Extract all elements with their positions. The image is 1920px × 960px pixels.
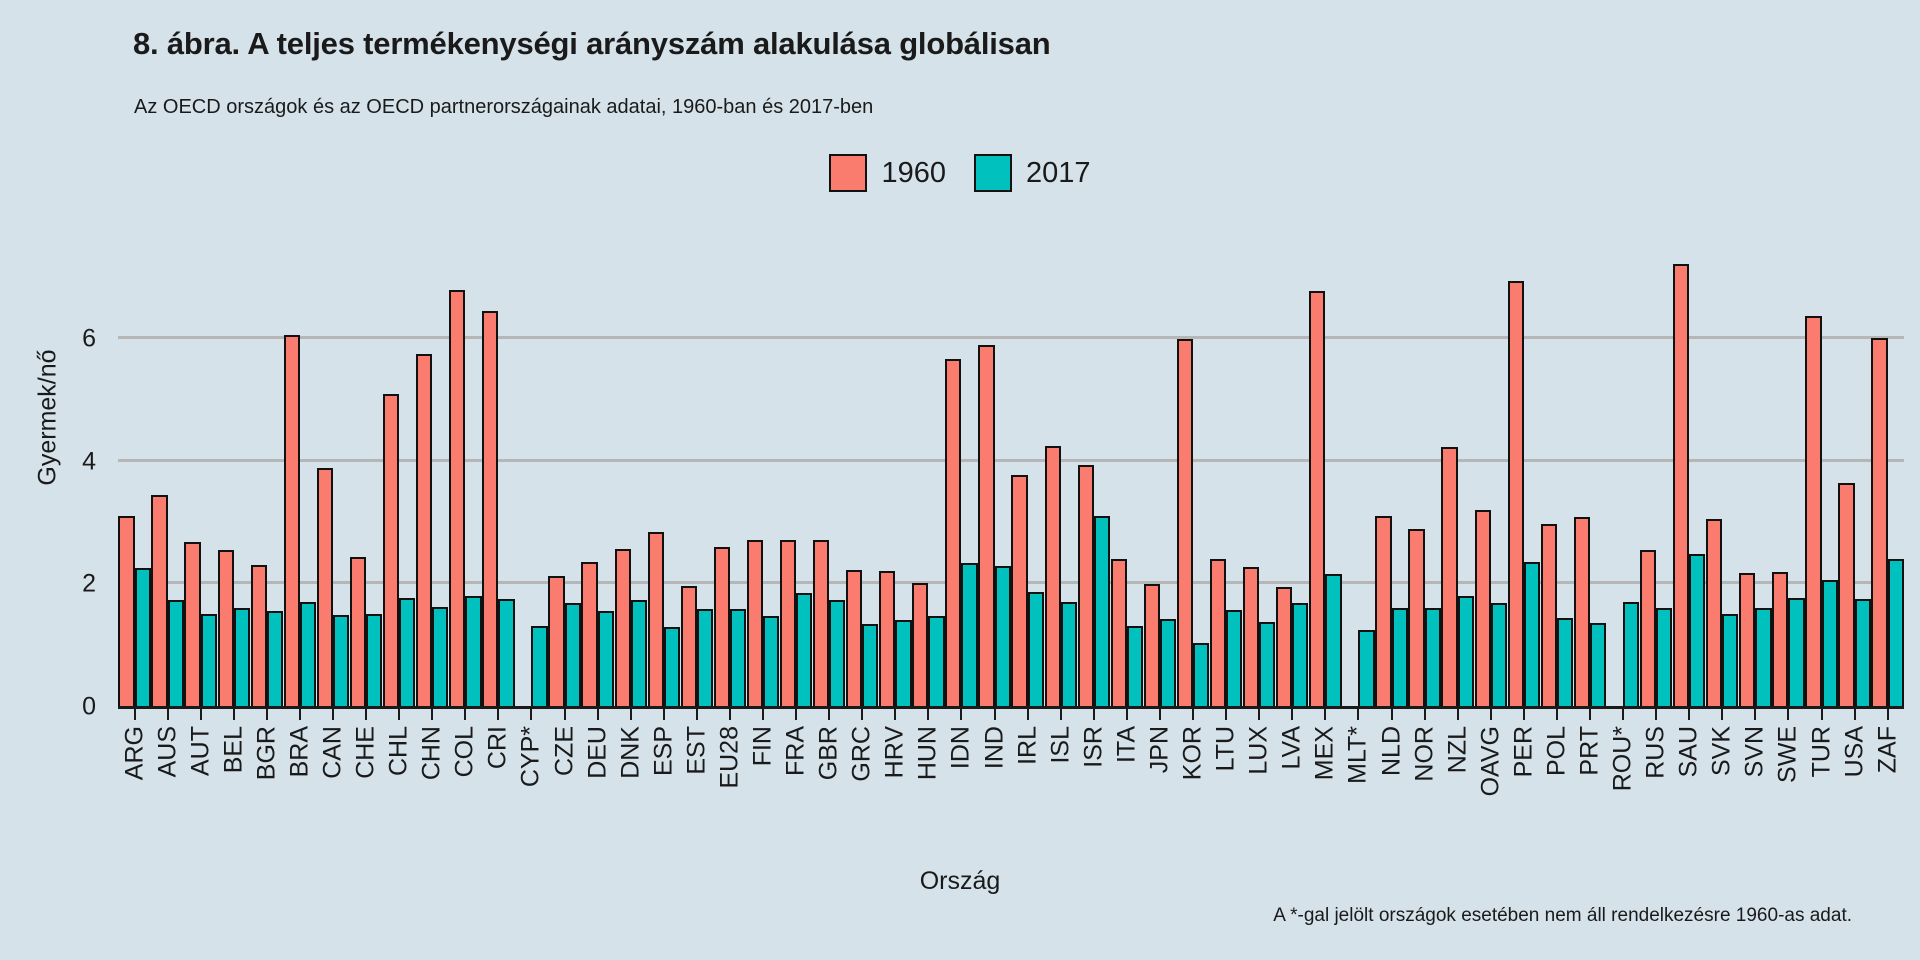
x-label-ISR: ISR bbox=[1077, 726, 1110, 836]
x-label-text: AUT bbox=[188, 726, 213, 776]
bar-2017-LVA[interactable] bbox=[1292, 603, 1308, 707]
bar-group bbox=[449, 247, 482, 707]
x-label-text: NOR bbox=[1412, 726, 1437, 782]
bar-2017-DNK[interactable] bbox=[631, 600, 647, 707]
bar-1960-BRA[interactable] bbox=[284, 335, 300, 707]
bar-2017-DEU[interactable] bbox=[598, 611, 614, 707]
x-tick bbox=[1276, 707, 1309, 723]
x-tick bbox=[647, 707, 680, 723]
bar-group bbox=[118, 247, 151, 707]
bar-1960-NZL[interactable] bbox=[1441, 447, 1457, 707]
bar-2017-CHN[interactable] bbox=[432, 607, 448, 707]
x-label-text: DNK bbox=[618, 726, 643, 779]
x-label-NOR: NOR bbox=[1408, 726, 1441, 836]
bar-1960-FRA[interactable] bbox=[780, 540, 796, 707]
x-label-IDN: IDN bbox=[945, 726, 978, 836]
x-label-text: IDN bbox=[949, 726, 974, 769]
bar-1960-FIN[interactable] bbox=[747, 540, 763, 707]
y-tick-label-2: 2 bbox=[56, 570, 96, 599]
bar-2017-RUS[interactable] bbox=[1656, 608, 1672, 707]
bar-2017-NLD[interactable] bbox=[1392, 608, 1408, 707]
bar-2017-ISL[interactable] bbox=[1061, 602, 1077, 707]
bar-1960-MEX[interactable] bbox=[1309, 291, 1325, 707]
x-tick bbox=[746, 707, 779, 723]
x-label-text: PER bbox=[1511, 726, 1536, 777]
x-tick bbox=[1474, 707, 1507, 723]
x-label-text: ESP bbox=[651, 726, 676, 776]
bar-1960-ISL[interactable] bbox=[1045, 446, 1061, 707]
bar-2017-EST[interactable] bbox=[697, 609, 713, 707]
x-tick bbox=[846, 707, 879, 723]
x-axis-ticks bbox=[118, 707, 1904, 723]
x-label-USA: USA bbox=[1838, 726, 1871, 836]
x-label-text: EST bbox=[684, 726, 709, 775]
bar-1960-PER[interactable] bbox=[1508, 281, 1524, 707]
legend-item-1960: 1960 bbox=[829, 154, 946, 192]
x-tick bbox=[1375, 707, 1408, 723]
x-axis-labels: ARGAUSAUTBELBGRBRACANCHECHLCHNCOLCRICYP*… bbox=[118, 726, 1904, 836]
x-label-MLT: MLT* bbox=[1342, 726, 1375, 836]
x-label-ITA: ITA bbox=[1110, 726, 1143, 836]
bar-group bbox=[383, 247, 416, 707]
bar-2017-CHE[interactable] bbox=[366, 614, 382, 707]
bar-1960-DEU[interactable] bbox=[581, 562, 597, 707]
x-tick bbox=[680, 707, 713, 723]
x-label-CHN: CHN bbox=[416, 726, 449, 836]
bar-1960-HUN[interactable] bbox=[912, 583, 928, 707]
bar-1960-RUS[interactable] bbox=[1640, 550, 1656, 707]
x-label-text: BRA bbox=[287, 726, 312, 777]
bar-2017-SVK[interactable] bbox=[1722, 614, 1738, 707]
x-label-text: POL bbox=[1544, 726, 1569, 776]
x-label-text: ISR bbox=[1081, 726, 1106, 768]
bar-1960-GBR[interactable] bbox=[813, 540, 829, 707]
x-label-text: USA bbox=[1842, 726, 1867, 777]
bar-1960-LVA[interactable] bbox=[1276, 587, 1292, 707]
x-label-text: RUS bbox=[1644, 726, 1669, 779]
x-tick bbox=[1871, 707, 1904, 723]
x-tick bbox=[945, 707, 978, 723]
x-tick bbox=[515, 707, 548, 723]
x-tick bbox=[1011, 707, 1044, 723]
bar-1960-CHN[interactable] bbox=[416, 354, 432, 707]
x-label-text: IND bbox=[982, 726, 1007, 769]
x-label-PRT: PRT bbox=[1573, 726, 1606, 836]
bar-2017-BEL[interactable] bbox=[234, 608, 250, 707]
bar-group bbox=[1607, 247, 1640, 707]
x-tick bbox=[1408, 707, 1441, 723]
x-label-text: SAU bbox=[1677, 726, 1702, 777]
x-label-text: HRV bbox=[883, 726, 908, 778]
bar-1960-EST[interactable] bbox=[681, 586, 697, 707]
page-subtitle: Az OECD országok és az OECD partnerorszá… bbox=[134, 96, 873, 119]
legend-swatch-2017 bbox=[974, 154, 1012, 192]
bar-2017-HRV[interactable] bbox=[895, 620, 911, 707]
x-tick bbox=[1838, 707, 1871, 723]
x-label-text: IRL bbox=[1015, 726, 1040, 765]
legend-label-2017: 2017 bbox=[1026, 157, 1091, 190]
x-label-CAN: CAN bbox=[316, 726, 349, 836]
bar-1960-IDN[interactable] bbox=[945, 359, 961, 707]
bar-2017-USA[interactable] bbox=[1855, 599, 1871, 707]
x-label-text: OAVG bbox=[1478, 726, 1503, 796]
x-label-KOR: KOR bbox=[1177, 726, 1210, 836]
x-label-NLD: NLD bbox=[1375, 726, 1408, 836]
x-tick bbox=[581, 707, 614, 723]
bar-1960-ZAF[interactable] bbox=[1871, 338, 1887, 707]
x-label-text: SWE bbox=[1776, 726, 1801, 783]
bar-group bbox=[316, 247, 349, 707]
bar-1960-CZE[interactable] bbox=[548, 576, 564, 707]
bar-2017-SAU[interactable] bbox=[1689, 554, 1705, 707]
x-label-EU28: EU28 bbox=[713, 726, 746, 836]
bar-2017-BRA[interactable] bbox=[300, 602, 316, 707]
bar-group bbox=[1408, 247, 1441, 707]
x-label-ZAF: ZAF bbox=[1871, 726, 1904, 836]
bar-2017-CZE[interactable] bbox=[565, 603, 581, 707]
x-tick bbox=[1640, 707, 1673, 723]
bar-2017-IND[interactable] bbox=[995, 566, 1011, 707]
x-label-CZE: CZE bbox=[548, 726, 581, 836]
x-label-text: HUN bbox=[916, 726, 941, 780]
bar-group bbox=[482, 247, 515, 707]
bar-2017-ARG[interactable] bbox=[135, 568, 151, 707]
bar-1960-PRT[interactable] bbox=[1574, 517, 1590, 707]
bar-1960-BGR[interactable] bbox=[251, 565, 267, 707]
bar-2017-GBR[interactable] bbox=[829, 600, 845, 707]
bar-group bbox=[879, 247, 912, 707]
bar-1960-LTU[interactable] bbox=[1210, 559, 1226, 707]
bar-1960-ESP[interactable] bbox=[648, 532, 664, 707]
bar-2017-CAN[interactable] bbox=[333, 615, 349, 707]
x-label-POL: POL bbox=[1540, 726, 1573, 836]
x-tick bbox=[1110, 707, 1143, 723]
bar-group bbox=[1243, 247, 1276, 707]
x-label-FRA: FRA bbox=[780, 726, 813, 836]
bar-1960-LUX[interactable] bbox=[1243, 567, 1259, 707]
x-label-text: COL bbox=[453, 726, 478, 777]
x-label-SVK: SVK bbox=[1706, 726, 1739, 836]
bar-group bbox=[1110, 247, 1143, 707]
bar-2017-ZAF[interactable] bbox=[1888, 559, 1904, 707]
x-label-CRI: CRI bbox=[482, 726, 515, 836]
bar-2017-FIN[interactable] bbox=[763, 616, 779, 707]
x-label-RUS: RUS bbox=[1640, 726, 1673, 836]
x-label-text: ISL bbox=[1048, 726, 1073, 764]
x-label-JPN: JPN bbox=[1143, 726, 1176, 836]
x-tick bbox=[482, 707, 515, 723]
x-label-DNK: DNK bbox=[614, 726, 647, 836]
x-label-text: SVN bbox=[1743, 726, 1768, 777]
x-label-BRA: BRA bbox=[283, 726, 316, 836]
bar-1960-CHL[interactable] bbox=[383, 394, 399, 707]
bar-group bbox=[1276, 247, 1309, 707]
bar-1960-IND[interactable] bbox=[978, 345, 994, 707]
x-tick bbox=[1573, 707, 1606, 723]
x-label-text: ITA bbox=[1114, 726, 1139, 763]
bar-group bbox=[746, 247, 779, 707]
x-label-text: LUX bbox=[1247, 726, 1272, 775]
bar-group bbox=[581, 247, 614, 707]
bar-group bbox=[548, 247, 581, 707]
x-tick bbox=[184, 707, 217, 723]
x-label-SVN: SVN bbox=[1739, 726, 1772, 836]
bar-1960-COL[interactable] bbox=[449, 290, 465, 707]
x-tick bbox=[1673, 707, 1706, 723]
x-label-ARG: ARG bbox=[118, 726, 151, 836]
x-label-HUN: HUN bbox=[912, 726, 945, 836]
x-label-text: ZAF bbox=[1875, 726, 1900, 773]
x-label-CHE: CHE bbox=[350, 726, 383, 836]
bar-group bbox=[1507, 247, 1540, 707]
bar-2017-CRI[interactable] bbox=[498, 599, 514, 707]
bar-1960-CHE[interactable] bbox=[350, 557, 366, 707]
x-label-HRV: HRV bbox=[879, 726, 912, 836]
bar-group bbox=[1871, 247, 1904, 707]
bar-2017-CHL[interactable] bbox=[399, 598, 415, 707]
bar-group bbox=[1011, 247, 1044, 707]
bar-2017-LTU[interactable] bbox=[1226, 610, 1242, 707]
bar-2017-COL[interactable] bbox=[465, 596, 481, 707]
bar-group bbox=[1143, 247, 1176, 707]
x-label-text: FIN bbox=[751, 726, 776, 766]
x-label-SWE: SWE bbox=[1772, 726, 1805, 836]
x-tick bbox=[1077, 707, 1110, 723]
x-label-text: LVA bbox=[1280, 726, 1305, 770]
x-label-MEX: MEX bbox=[1309, 726, 1342, 836]
x-tick bbox=[1772, 707, 1805, 723]
bar-1960-SVN[interactable] bbox=[1739, 573, 1755, 707]
bar-group bbox=[945, 247, 978, 707]
x-tick bbox=[217, 707, 250, 723]
x-tick bbox=[1044, 707, 1077, 723]
x-label-text: ROU* bbox=[1611, 726, 1636, 791]
y-axis-title: Gyermek/nő bbox=[34, 318, 63, 518]
x-tick bbox=[350, 707, 383, 723]
x-tick bbox=[1739, 707, 1772, 723]
bar-1960-NOR[interactable] bbox=[1408, 529, 1424, 707]
bar-1960-KOR[interactable] bbox=[1177, 339, 1193, 707]
x-tick bbox=[1441, 707, 1474, 723]
x-label-CHL: CHL bbox=[383, 726, 416, 836]
x-label-text: MEX bbox=[1313, 726, 1338, 780]
bar-group bbox=[1573, 247, 1606, 707]
bar-2017-ISR[interactable] bbox=[1094, 516, 1110, 707]
x-label-EST: EST bbox=[680, 726, 713, 836]
x-label-AUS: AUS bbox=[151, 726, 184, 836]
x-label-BGR: BGR bbox=[250, 726, 283, 836]
x-tick bbox=[978, 707, 1011, 723]
x-label-text: GRC bbox=[850, 726, 875, 782]
y-tick-label-0: 0 bbox=[56, 693, 96, 722]
bar-2017-HUN[interactable] bbox=[928, 616, 944, 707]
bar-series-container bbox=[118, 247, 1904, 707]
x-label-text: CHL bbox=[387, 726, 412, 776]
bar-1960-SAU[interactable] bbox=[1673, 264, 1689, 707]
x-label-text: CHE bbox=[354, 726, 379, 779]
footnote: A *-gal jelölt országok esetében nem áll… bbox=[1273, 905, 1852, 927]
bar-group bbox=[846, 247, 879, 707]
bar-2017-POL[interactable] bbox=[1557, 618, 1573, 707]
bar-group bbox=[250, 247, 283, 707]
bar-group bbox=[283, 247, 316, 707]
x-label-TUR: TUR bbox=[1805, 726, 1838, 836]
x-tick bbox=[250, 707, 283, 723]
x-tick bbox=[1507, 707, 1540, 723]
bar-2017-IDN[interactable] bbox=[961, 563, 977, 707]
page-title: 8. ábra. A teljes termékenységi arányszá… bbox=[133, 26, 1051, 62]
bar-1960-NLD[interactable] bbox=[1375, 516, 1391, 707]
x-tick bbox=[1342, 707, 1375, 723]
x-label-text: ARG bbox=[122, 726, 147, 780]
bar-1960-SVK[interactable] bbox=[1706, 519, 1722, 707]
bar-2017-PER[interactable] bbox=[1524, 562, 1540, 707]
x-label-LVA: LVA bbox=[1276, 726, 1309, 836]
bar-2017-AUT[interactable] bbox=[201, 614, 217, 707]
x-label-text: CAN bbox=[321, 726, 346, 779]
x-label-text: TUR bbox=[1809, 726, 1834, 777]
bar-1960-POL[interactable] bbox=[1541, 524, 1557, 707]
bar-2017-ITA[interactable] bbox=[1127, 626, 1143, 707]
legend-item-2017: 2017 bbox=[974, 154, 1091, 192]
x-label-text: BGR bbox=[254, 726, 279, 780]
bar-2017-NZL[interactable] bbox=[1458, 596, 1474, 707]
bar-group bbox=[713, 247, 746, 707]
x-label-text: LTU bbox=[1214, 726, 1239, 771]
x-label-BEL: BEL bbox=[217, 726, 250, 836]
x-label-IND: IND bbox=[978, 726, 1011, 836]
bar-group bbox=[1838, 247, 1871, 707]
bar-2017-ESP[interactable] bbox=[664, 627, 680, 707]
bar-1960-TUR[interactable] bbox=[1805, 316, 1821, 707]
x-label-text: KOR bbox=[1181, 726, 1206, 780]
x-tick bbox=[614, 707, 647, 723]
bar-1960-USA[interactable] bbox=[1838, 483, 1854, 707]
x-tick bbox=[1607, 707, 1640, 723]
x-tick bbox=[416, 707, 449, 723]
bar-group bbox=[647, 247, 680, 707]
x-tick bbox=[813, 707, 846, 723]
x-tick bbox=[1143, 707, 1176, 723]
bar-group bbox=[416, 247, 449, 707]
bar-1960-ITA[interactable] bbox=[1111, 559, 1127, 707]
x-label-ESP: ESP bbox=[647, 726, 680, 836]
bar-1960-ARG[interactable] bbox=[118, 516, 134, 707]
bar-group bbox=[515, 247, 548, 707]
x-label-text: BEL bbox=[221, 726, 246, 773]
x-label-AUT: AUT bbox=[184, 726, 217, 836]
bar-2017-PRT[interactable] bbox=[1590, 623, 1606, 707]
bar-group bbox=[151, 247, 184, 707]
bar-1960-IRL[interactable] bbox=[1011, 475, 1027, 707]
x-tick bbox=[1243, 707, 1276, 723]
bar-group bbox=[1441, 247, 1474, 707]
bar-1960-SWE[interactable] bbox=[1772, 572, 1788, 707]
bar-2017-SWE[interactable] bbox=[1788, 598, 1804, 707]
x-label-LTU: LTU bbox=[1210, 726, 1243, 836]
bar-2017-IRL[interactable] bbox=[1028, 592, 1044, 707]
bar-2017-ROU[interactable] bbox=[1623, 602, 1639, 707]
bar-group bbox=[978, 247, 1011, 707]
bar-2017-OAVG[interactable] bbox=[1491, 603, 1507, 707]
x-tick bbox=[780, 707, 813, 723]
x-tick bbox=[383, 707, 416, 723]
bar-group bbox=[1309, 247, 1342, 707]
bar-1960-GRC[interactable] bbox=[846, 570, 862, 707]
legend-swatch-1960 bbox=[829, 154, 867, 192]
bar-1960-AUS[interactable] bbox=[151, 495, 167, 707]
bar-2017-KOR[interactable] bbox=[1193, 643, 1209, 707]
bar-2017-NOR[interactable] bbox=[1425, 608, 1441, 707]
bar-1960-CAN[interactable] bbox=[317, 468, 333, 707]
bar-group bbox=[1375, 247, 1408, 707]
bar-2017-LUX[interactable] bbox=[1259, 622, 1275, 707]
bar-2017-EU28[interactable] bbox=[730, 609, 746, 707]
x-label-text: PRT bbox=[1577, 726, 1602, 776]
bar-1960-CRI[interactable] bbox=[482, 311, 498, 707]
bar-2017-TUR[interactable] bbox=[1822, 580, 1838, 707]
bar-1960-ISR[interactable] bbox=[1078, 465, 1094, 707]
bar-2017-GRC[interactable] bbox=[862, 624, 878, 707]
bar-1960-EU28[interactable] bbox=[714, 547, 730, 707]
x-label-IRL: IRL bbox=[1011, 726, 1044, 836]
bar-1960-JPN[interactable] bbox=[1144, 584, 1160, 707]
bar-group bbox=[1706, 247, 1739, 707]
x-tick bbox=[151, 707, 184, 723]
bar-group bbox=[1540, 247, 1573, 707]
x-label-DEU: DEU bbox=[581, 726, 614, 836]
legend-label-1960: 1960 bbox=[881, 157, 946, 190]
x-tick bbox=[713, 707, 746, 723]
plot-area bbox=[118, 247, 1904, 707]
bar-1960-OAVG[interactable] bbox=[1475, 510, 1491, 707]
bar-2017-FRA[interactable] bbox=[796, 593, 812, 707]
x-label-text: SVK bbox=[1710, 726, 1735, 776]
x-tick bbox=[1540, 707, 1573, 723]
x-label-text: DEU bbox=[585, 726, 610, 779]
bar-group bbox=[1805, 247, 1838, 707]
x-label-text: CHN bbox=[420, 726, 445, 780]
bar-2017-BGR[interactable] bbox=[267, 611, 283, 707]
bar-group bbox=[1177, 247, 1210, 707]
bar-2017-JPN[interactable] bbox=[1160, 619, 1176, 707]
bar-group bbox=[1474, 247, 1507, 707]
x-tick bbox=[316, 707, 349, 723]
bar-group bbox=[1077, 247, 1110, 707]
bar-2017-MEX[interactable] bbox=[1325, 574, 1341, 707]
x-label-COL: COL bbox=[449, 726, 482, 836]
bar-1960-HRV[interactable] bbox=[879, 571, 895, 707]
bar-group bbox=[1640, 247, 1673, 707]
bar-group bbox=[1739, 247, 1772, 707]
bar-group bbox=[1044, 247, 1077, 707]
chart-legend: 1960 2017 bbox=[0, 154, 1920, 192]
bar-2017-AUS[interactable] bbox=[168, 600, 184, 707]
x-tick bbox=[1177, 707, 1210, 723]
x-label-ROU: ROU* bbox=[1607, 726, 1640, 836]
x-tick bbox=[1805, 707, 1838, 723]
bar-2017-MLT[interactable] bbox=[1358, 630, 1374, 707]
bar-group bbox=[680, 247, 713, 707]
bar-1960-AUT[interactable] bbox=[184, 542, 200, 707]
x-label-text: NZL bbox=[1445, 726, 1470, 773]
bar-2017-SVN[interactable] bbox=[1755, 608, 1771, 707]
bar-2017-CYP[interactable] bbox=[531, 626, 547, 707]
bar-group bbox=[813, 247, 846, 707]
x-label-text: FRA bbox=[784, 726, 809, 776]
bar-1960-DNK[interactable] bbox=[615, 549, 631, 707]
bar-1960-BEL[interactable] bbox=[218, 550, 234, 707]
